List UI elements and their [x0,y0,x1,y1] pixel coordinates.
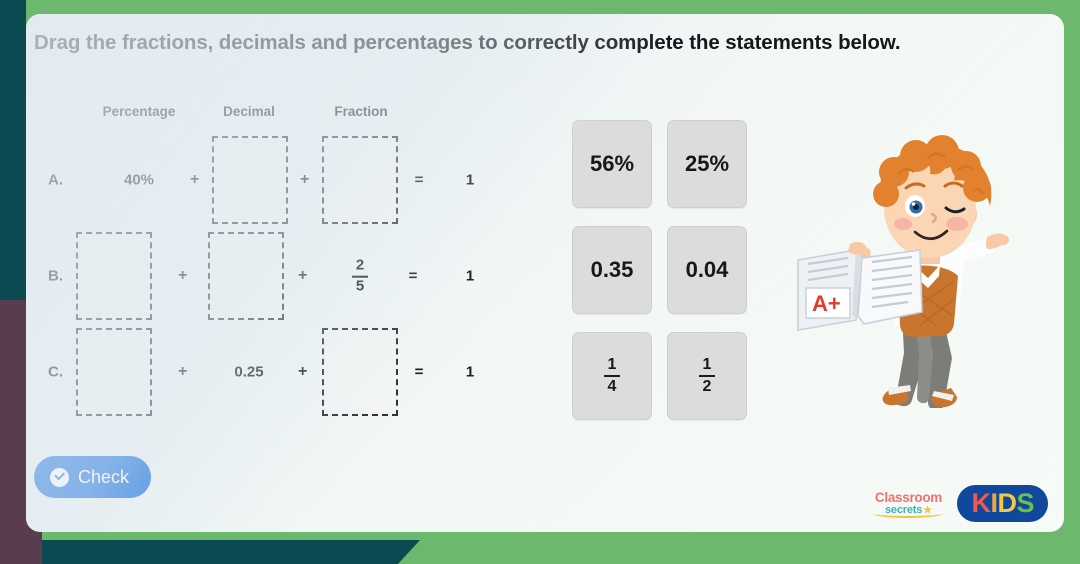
fraction-denominator: 2 [700,378,715,396]
tile-value: 0.35 [591,257,634,283]
tile-value: 56% [590,151,634,177]
row-a-fraction-dropzone[interactable] [322,136,398,224]
page-title: Drag the fractions, decimals and percent… [34,28,1046,57]
row-a-operator-1: + [190,171,199,189]
row-b-equals: = [404,268,422,285]
fraction-bar [699,375,715,377]
column-header-decimal: Decimal [194,104,304,119]
kids-letter-s: S [1016,490,1034,517]
activity-panel: Drag the fractions, decimals and percent… [26,14,1064,532]
row-b-decimal-dropzone[interactable] [208,232,284,320]
logo-swoosh [873,509,943,518]
row-c-operator-2: + [298,363,307,381]
tile-value: 0.04 [686,257,729,283]
equation-row-a: A. 40% + + = 1 [26,130,546,230]
row-c-operator-1: + [178,363,187,381]
draggable-tile-0-35[interactable]: 0.35 [572,226,652,314]
row-a-decimal-dropzone[interactable] [212,136,288,224]
boy-holding-book-illustration: A+ [782,132,1034,408]
row-c-result: 1 [450,364,490,381]
kids-letter-i: I [990,490,997,517]
branding: Classroom secrets★ K I D S [869,485,1048,522]
classroom-secrets-logo: Classroom secrets★ [869,489,947,519]
kids-logo: K I D S [957,485,1048,522]
fraction-one-half: 1 2 [699,356,715,396]
equation-row-b: B. + + 2 5 = 1 [26,226,546,326]
column-header-fraction: Fraction [306,104,416,119]
fraction-numerator: 1 [605,356,620,374]
draggable-tile-56-percent[interactable]: 56% [572,120,652,208]
row-a-operator-2: + [300,171,309,189]
book-grade-label: A+ [812,291,841,316]
lesson-frame: Drag the fractions, decimals and percent… [0,0,1080,564]
draggable-tile-25-percent[interactable]: 25% [667,120,747,208]
kids-letter-d: D [997,490,1016,517]
draggable-tile-0-04[interactable]: 0.04 [667,226,747,314]
row-b-fraction-value: 2 5 [326,257,394,296]
row-c-decimal-value: 0.25 [206,364,292,381]
fraction-denominator: 5 [353,279,367,296]
row-b-result: 1 [450,268,490,285]
row-c-fraction-dropzone[interactable] [322,328,398,416]
row-a-result: 1 [450,172,490,189]
check-circle-icon [50,468,69,487]
row-label-c: C. [48,364,63,381]
draggable-tile-one-quarter[interactable]: 1 4 [572,332,652,420]
row-b-operator-2: + [298,267,307,285]
row-a-equals: = [410,172,428,189]
fraction-two-fifths: 2 5 [352,258,368,296]
kids-letter-k: K [971,490,990,517]
row-label-a: A. [48,172,63,189]
fraction-one-quarter: 1 4 [604,356,620,396]
check-button[interactable]: Check [34,456,151,498]
classroom-secrets-word-1: Classroom [875,491,942,505]
check-button-label: Check [78,467,129,488]
row-label-b: B. [48,268,63,285]
row-a-percentage-value: 40% [98,172,180,189]
draggable-tile-one-half[interactable]: 1 2 [667,332,747,420]
fraction-numerator: 2 [353,258,367,275]
row-b-operator-1: + [178,267,187,285]
row-c-percentage-dropzone[interactable] [76,328,152,416]
column-header-percentage: Percentage [84,104,194,119]
fraction-bar [604,375,620,377]
equation-row-c: C. + 0.25 + = 1 [26,322,546,422]
row-c-equals: = [410,364,428,381]
fraction-denominator: 4 [605,378,620,396]
fraction-numerator: 1 [700,356,715,374]
tile-value: 25% [685,151,729,177]
row-b-percentage-dropzone[interactable] [76,232,152,320]
